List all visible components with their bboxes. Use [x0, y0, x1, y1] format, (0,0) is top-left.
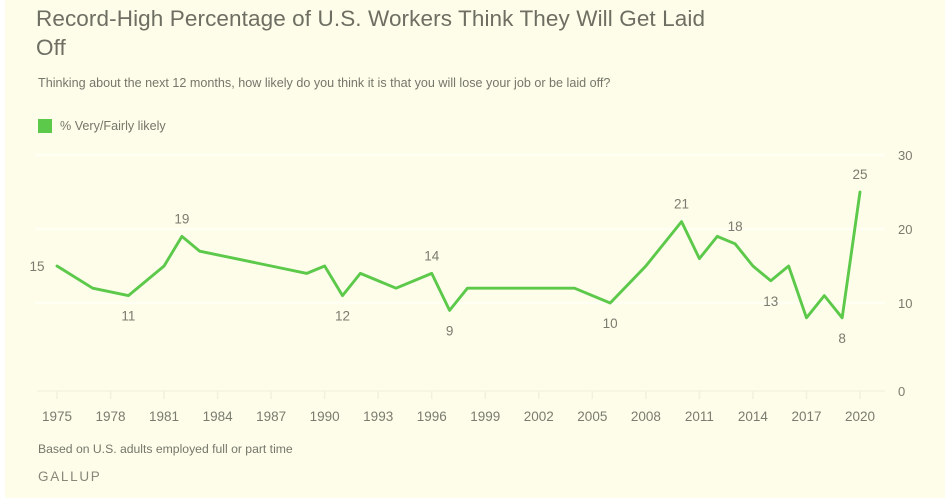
gridlines-group [35, 155, 885, 303]
data-point-label: 11 [121, 309, 135, 324]
data-point-label: 21 [674, 197, 689, 212]
x-axis-tick-label: 2011 [685, 409, 714, 424]
data-point-labels: 1511191214910211813825 [29, 167, 867, 346]
y-axis-tick-label: 30 [898, 148, 912, 163]
x-axis-tick-label: 1984 [203, 409, 234, 424]
data-point-label: 19 [174, 211, 189, 226]
line-chart-plot: 0102030 19751978198119841987199019931996… [5, 0, 950, 498]
data-point-label: 12 [335, 309, 350, 324]
brand-logo: GALLUP [38, 469, 101, 484]
data-point-label: 10 [603, 316, 618, 331]
x-axis-group [37, 391, 885, 399]
x-axis-tick-label: 1975 [42, 409, 72, 424]
x-axis-tick-label: 2014 [738, 409, 769, 424]
x-axis-tick-label: 1987 [256, 409, 286, 424]
data-point-label: 8 [838, 331, 846, 346]
x-axis-tick-label: 1981 [149, 409, 179, 424]
x-axis-tick-label: 2005 [577, 409, 607, 424]
x-axis-tick-label: 1993 [363, 409, 393, 424]
y-axis-tick-label: 10 [898, 296, 912, 311]
x-axis-tick-label: 2017 [791, 409, 821, 424]
gallup-chart-card: Record-High Percentage of U.S. Workers T… [0, 0, 950, 498]
data-point-label: 9 [446, 323, 454, 338]
source-note: Based on U.S. adults employed full or pa… [38, 442, 293, 456]
y-axis-tick-label: 0 [898, 384, 905, 399]
x-axis-tick-label: 1990 [310, 409, 340, 424]
x-axis-tick-label: 2008 [631, 409, 661, 424]
x-axis-tick-label: 2020 [845, 409, 875, 424]
data-point-label: 25 [852, 167, 867, 182]
data-point-label: 13 [763, 294, 778, 309]
x-axis-tick-label: 2002 [524, 409, 554, 424]
data-point-label: 15 [29, 259, 44, 274]
x-axis-tick-label: 1999 [470, 409, 500, 424]
y-axis-tick-label: 20 [898, 222, 912, 237]
x-axis-tick-labels: 1975197819811984198719901993199619992002… [42, 409, 875, 424]
data-point-label: 14 [424, 248, 440, 263]
y-axis-tick-labels: 0102030 [898, 148, 912, 399]
data-point-label: 18 [728, 219, 743, 234]
x-axis-tick-label: 1978 [96, 409, 126, 424]
x-axis-tick-label: 1996 [417, 409, 447, 424]
